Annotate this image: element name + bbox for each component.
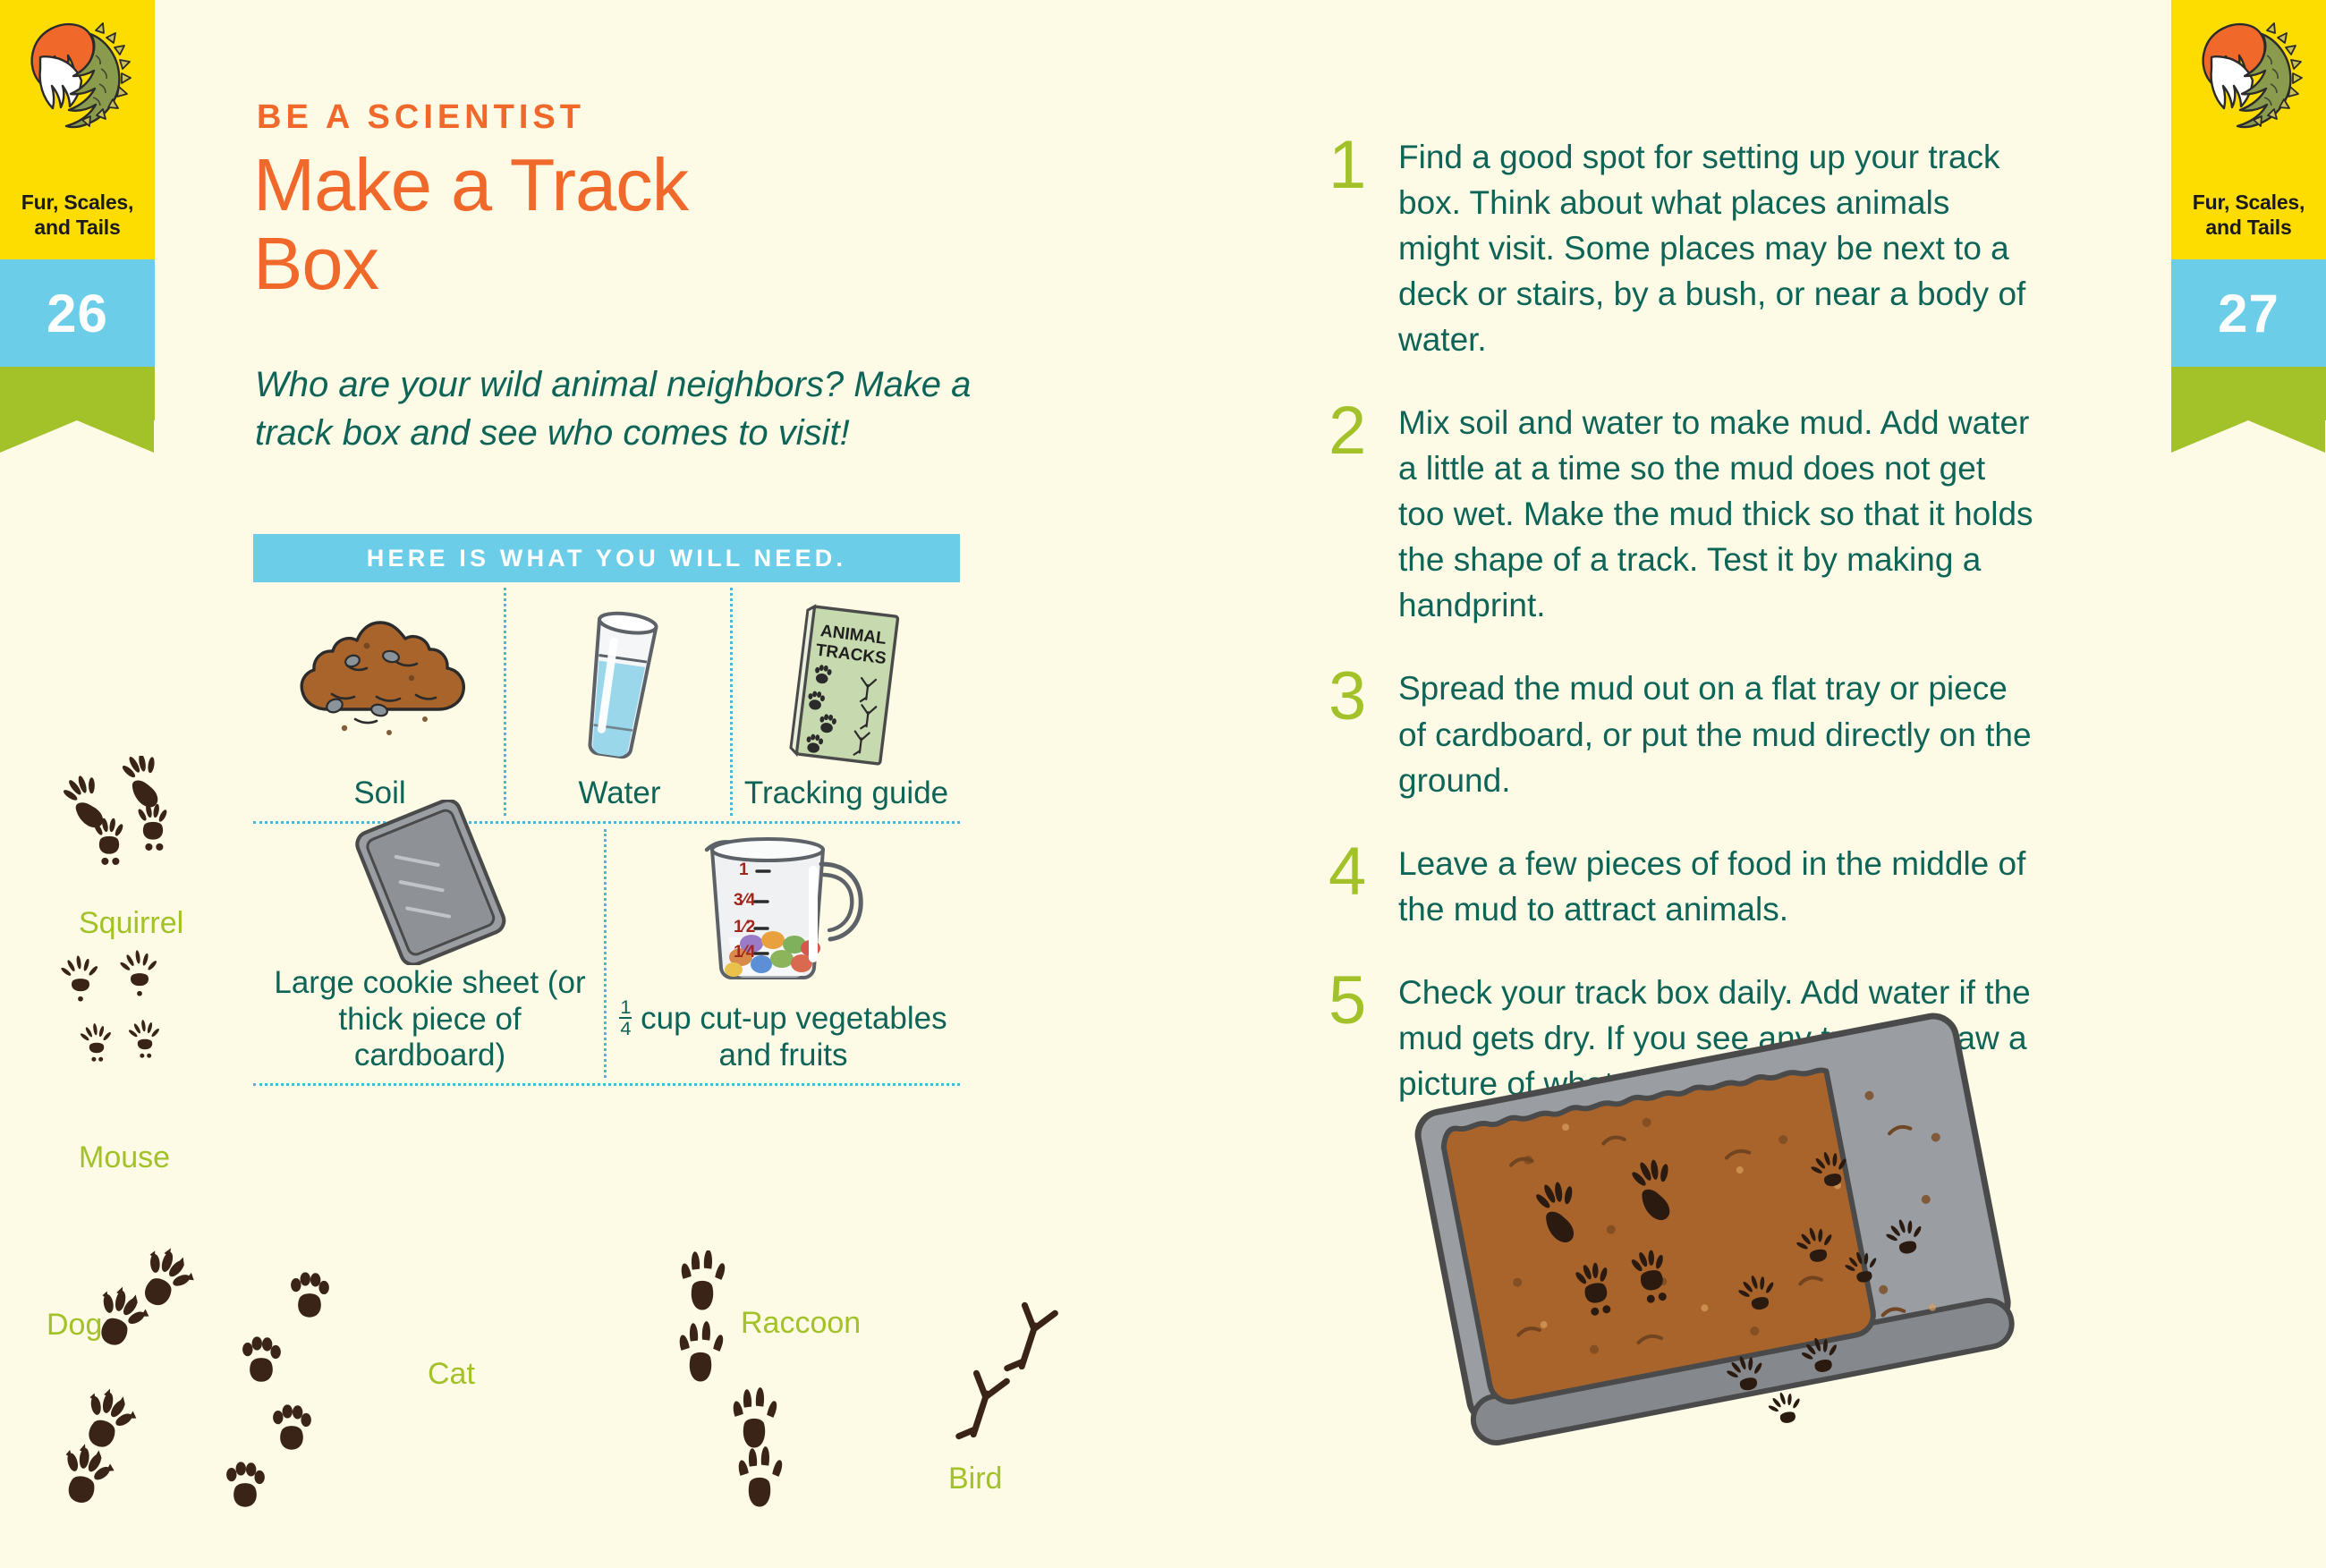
right-tab-category-label: Fur, Scales, and Tails	[2171, 190, 2326, 240]
cup-marking-3-4: 3⁄4	[734, 891, 756, 910]
material-item-measuring-cup: 1 3⁄4 1⁄2 1⁄4 1	[607, 824, 960, 1083]
book-spread: Fur, Scales, and Tails 26	[0, 0, 2326, 1568]
step-number: 2	[1329, 400, 1398, 628]
right-tab-category-line2: and Tails	[2205, 216, 2291, 239]
mouse-track-icon	[47, 948, 172, 1087]
step-number: 1	[1329, 134, 1398, 362]
page-title: Make a Track Box	[253, 146, 826, 303]
step-text: Leave a few pieces of food in the middle…	[1398, 841, 2035, 932]
step-text: Spread the mud out on a flat tray or pie…	[1398, 665, 2035, 802]
instruction-step: 1 Find a good spot for setting up your t…	[1329, 134, 2035, 362]
materials-header-label: HERE IS WHAT YOU WILL NEED.	[367, 545, 846, 572]
left-tab-category-label: Fur, Scales, and Tails	[0, 190, 155, 240]
material-label-cookie-sheet: Large cookie sheet (or thick piece of ca…	[259, 965, 601, 1074]
cup-marking-1: 1	[739, 860, 749, 879]
material-item-tracking-guide: ANIMAL TRACKS	[733, 582, 960, 821]
cookie-sheet-icon	[338, 800, 522, 965]
track-label-mouse: Mouse	[79, 1140, 170, 1175]
dog-track-icon	[54, 1239, 215, 1530]
right-page-number: 27	[2218, 283, 2279, 344]
step-number: 4	[1329, 841, 1398, 932]
section-kicker: BE A SCIENTIST	[257, 98, 585, 137]
track-label-raccoon: Raccoon	[741, 1306, 861, 1341]
track-label-cat: Cat	[428, 1357, 475, 1392]
finished-track-box-icon	[1396, 975, 2040, 1494]
left-tab-category-line2: and Tails	[34, 216, 120, 239]
material-item-cookie-sheet: Large cookie sheet (or thick piece of ca…	[253, 824, 607, 1083]
bird-track-icon	[944, 1288, 1078, 1489]
intro-paragraph: Who are your wild animal neighbors? Make…	[255, 360, 980, 458]
instruction-step: 4 Leave a few pieces of food in the midd…	[1329, 841, 2035, 932]
right-page-tab: Fur, Scales, and Tails 27	[2171, 0, 2326, 453]
step-number: 5	[1329, 970, 1398, 1106]
left-page: BE A SCIENTIST Make a Track Box Who are …	[0, 0, 1163, 1568]
instruction-step: 2 Mix soil and water to make mud. Add wa…	[1329, 400, 2035, 628]
materials-row-2: Large cookie sheet (or thick piece of ca…	[253, 824, 960, 1083]
materials-grid: Soil	[253, 582, 960, 1086]
step-text: Mix soil and water to make mud. Add wate…	[1398, 400, 2035, 628]
tracking-guide-book-icon: ANIMAL TRACKS	[782, 600, 912, 770]
right-page-number-block: 27	[2171, 259, 2326, 367]
instruction-step: 3 Spread the mud out on a flat tray or p…	[1329, 665, 2035, 802]
left-page-number-block: 26	[0, 259, 155, 367]
materials-bottom-divider	[253, 1083, 960, 1086]
track-label-squirrel: Squirrel	[79, 906, 183, 941]
left-tab-category-line1: Fur, Scales,	[21, 191, 133, 214]
materials-header-bar: HERE IS WHAT YOU WILL NEED.	[253, 534, 960, 582]
right-tab-green-banner	[2171, 367, 2326, 453]
right-page: 1 Find a good spot for setting up your t…	[1163, 0, 2326, 1568]
material-label-measuring-cup-text: cup cut-up vegetables and fruits	[641, 1001, 947, 1073]
material-label-tracking-guide: Tracking guide	[744, 776, 948, 812]
materials-row-1: Soil	[253, 582, 960, 821]
left-page-number: 26	[47, 283, 108, 344]
water-glass-icon	[564, 603, 675, 768]
track-label-dog: Dog	[47, 1308, 102, 1343]
step-number: 3	[1329, 665, 1398, 802]
fox-tail-lizard-tail-icon	[24, 20, 132, 129]
right-tab-category-line1: Fur, Scales,	[2193, 191, 2305, 214]
left-tab-green-banner	[0, 367, 155, 453]
squirrel-track-icon	[45, 756, 170, 877]
measuring-cup-icon: 1 3⁄4 1⁄2 1⁄4	[678, 823, 888, 997]
right-tab-category-block: Fur, Scales, and Tails	[2171, 0, 2326, 259]
soil-mound-icon	[291, 612, 470, 759]
track-label-bird: Bird	[948, 1462, 1002, 1496]
cup-marking-1-2: 1⁄2	[734, 918, 755, 937]
left-page-tab: Fur, Scales, and Tails 26	[0, 0, 155, 453]
raccoon-track-icon	[666, 1250, 810, 1523]
measure-fraction: 1 4	[619, 997, 632, 1038]
cat-track-icon	[206, 1259, 376, 1550]
material-item-water: Water	[506, 582, 733, 821]
material-item-soil: Soil	[253, 582, 506, 821]
step-text: Find a good spot for setting up your tra…	[1398, 134, 2035, 362]
material-label-measuring-cup: 1 4 cup cut-up vegetables and fruits	[612, 997, 955, 1074]
cup-marking-1-4: 1⁄4	[734, 943, 756, 962]
fox-tail-lizard-tail-icon	[2195, 20, 2303, 129]
left-tab-category-block: Fur, Scales, and Tails	[0, 0, 155, 259]
